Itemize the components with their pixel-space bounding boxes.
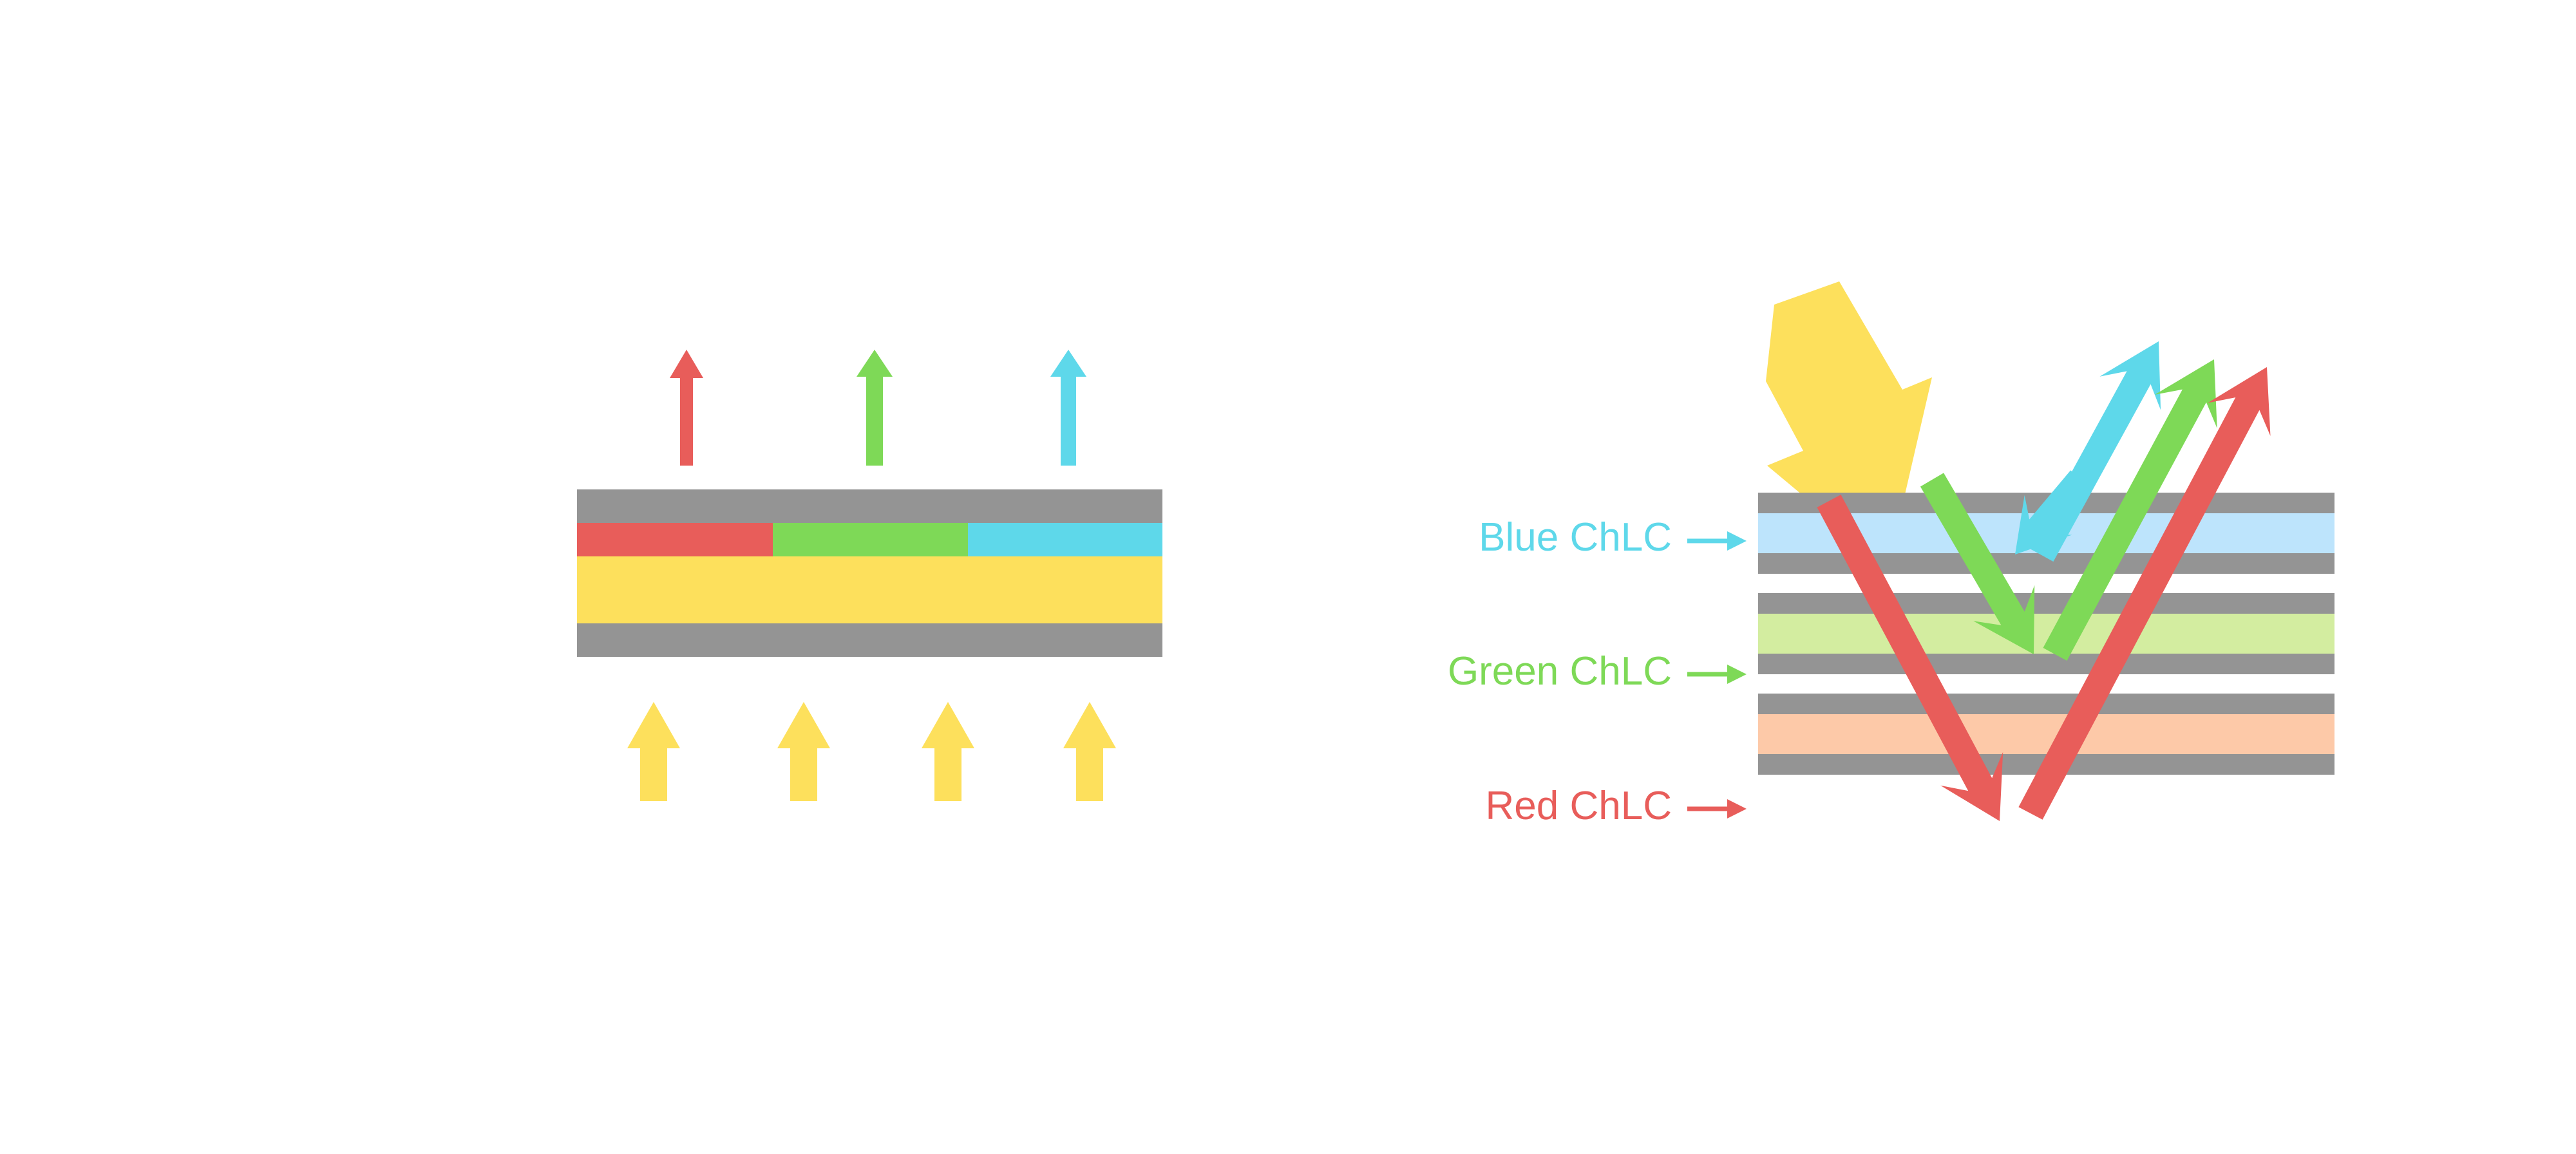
layer-red-chlc-layer — [1758, 714, 2334, 754]
segment-green-filter — [773, 523, 968, 556]
display-stack — [577, 489, 1162, 657]
segment-top-electrode-0 — [577, 489, 1162, 523]
green-chlc-label: Green ChLC — [1448, 649, 1672, 694]
layer-red-cell-top-electrode — [1758, 694, 2334, 714]
blue-chlc-label: Blue ChLC — [1479, 515, 1672, 560]
layer-color-filter — [577, 523, 1162, 556]
layer-bottom-electrode — [577, 623, 1162, 657]
diagram-canvas: Blue ChLCGreen ChLCRed ChLC — [0, 0, 2576, 1154]
layer-green-cell-top-electrode — [1758, 593, 2334, 614]
segment-bottom-electrode-0 — [577, 623, 1162, 657]
layer-backlight — [577, 556, 1162, 623]
segment-red-filter — [577, 523, 773, 556]
layer-top-electrode — [577, 489, 1162, 523]
red-chlc-label: Red ChLC — [1486, 784, 1672, 828]
layer-green-cell-bottom-electrode — [1758, 654, 2334, 674]
chlc-comparison-diagram: Blue ChLCGreen ChLCRed ChLC — [0, 0, 2576, 1154]
background — [0, 0, 2576, 1154]
segment-blue-filter — [968, 523, 1162, 556]
segment-backlight-0 — [577, 556, 1162, 623]
